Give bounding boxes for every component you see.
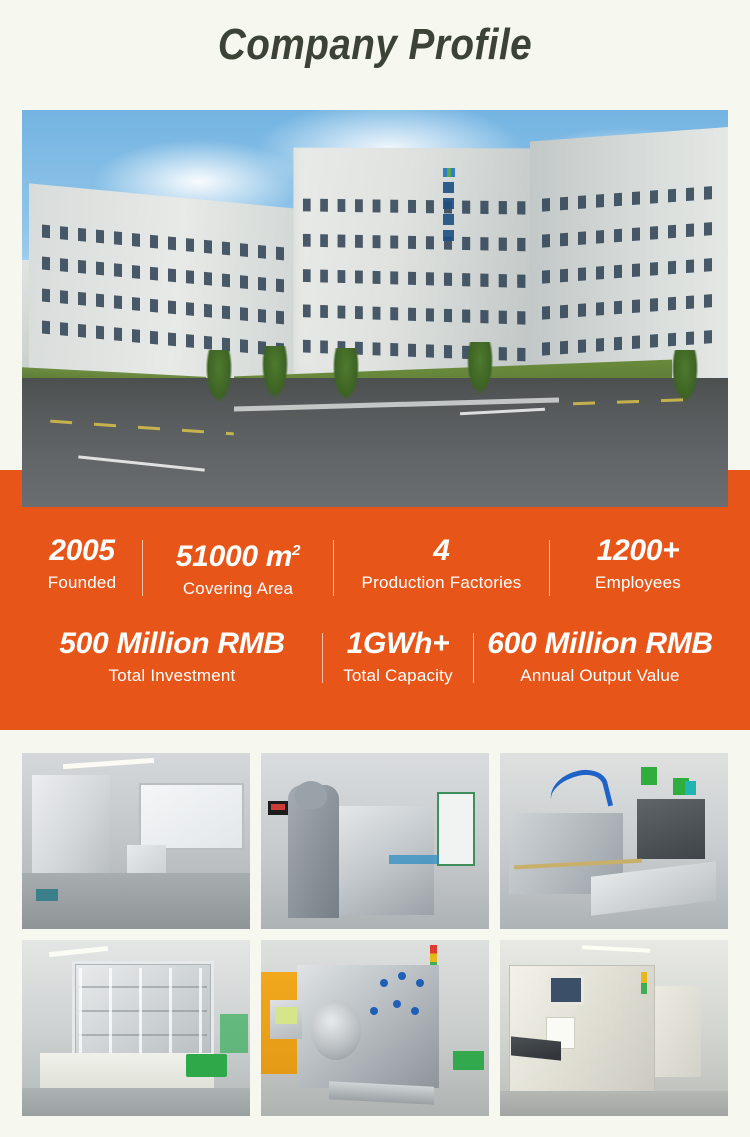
- stack-light-icon: [641, 972, 647, 994]
- stats-row-primary: 2005 Founded 51000 m2 Covering Area 4 Pr…: [22, 532, 728, 602]
- machine-enclosure: [72, 961, 213, 1067]
- tree: [467, 342, 493, 394]
- road-surface: [22, 378, 728, 507]
- stat-total-capacity: 1GWh+ Total Capacity: [323, 625, 473, 689]
- stats-row-secondary: 500 Million RMB Total Investment 1GWh+ T…: [22, 625, 728, 689]
- whiteboard: [139, 783, 244, 850]
- stat-founded: 2005 Founded: [22, 532, 142, 596]
- green-bin: [453, 1051, 485, 1070]
- control-panel: [270, 1000, 302, 1039]
- page-title: Company Profile: [45, 16, 705, 74]
- tree: [206, 350, 232, 402]
- green-bin: [186, 1054, 227, 1077]
- right-building-wing: [530, 126, 728, 391]
- stat-employees: 1200+ Employees: [550, 532, 726, 596]
- gallery-photo-2: [261, 753, 489, 929]
- tree: [262, 346, 288, 398]
- stat-total-investment: 500 Million RMB Total Investment: [22, 625, 322, 689]
- gallery-photo-6: [500, 940, 728, 1116]
- tree: [333, 348, 359, 400]
- gallery-photo-3: [500, 753, 728, 929]
- stat-annual-output-value: 600 Million RMB Annual Output Value: [474, 625, 726, 689]
- facility-photo-grid: [22, 753, 728, 1116]
- pneumatic-hose: [546, 764, 614, 819]
- tree: [672, 350, 698, 402]
- hero-building-image: [22, 110, 728, 507]
- stat-production-factories: 4 Production Factories: [334, 532, 549, 596]
- building-signage: [442, 168, 455, 241]
- gallery-photo-5: [261, 940, 489, 1116]
- company-profile-page: Company Profile: [0, 0, 750, 1137]
- gallery-photo-4: [22, 940, 250, 1116]
- main-building: [294, 148, 547, 399]
- company-logo-icon: [443, 168, 455, 177]
- hmi-touchscreen: [548, 975, 584, 1005]
- stat-covering-area: 51000 m2 Covering Area: [143, 532, 333, 602]
- gallery-photo-1: [22, 753, 250, 929]
